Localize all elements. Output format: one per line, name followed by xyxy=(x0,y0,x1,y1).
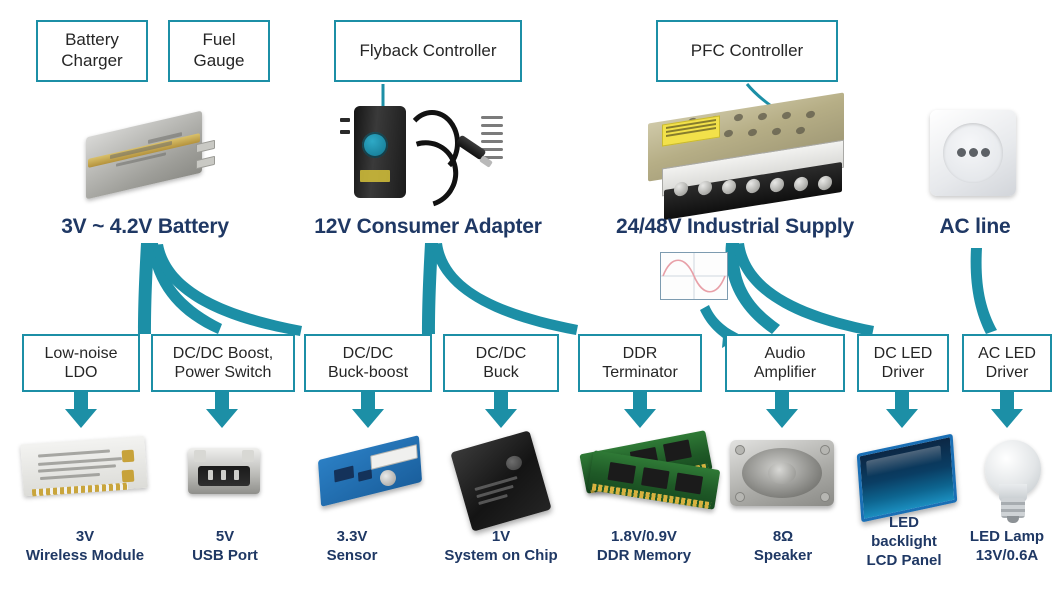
battery-to-ldo-line xyxy=(138,243,154,334)
block-buckboost-line1: DC/DC xyxy=(343,345,394,362)
load-label-led-lamp: LED Lamp 13V/0.6A xyxy=(955,528,1058,566)
power-management-block-diagram: Battery Charger Fuel Gauge Flyback Contr… xyxy=(0,0,1058,608)
block-dcled-line1: DC LED xyxy=(874,345,933,362)
load-label-speaker: 8Ω Speaker xyxy=(722,528,844,566)
block-boost-line2: Power Switch xyxy=(175,364,272,381)
led-bulb-photo xyxy=(975,440,1055,524)
load-label-soc: 1V System on Chip xyxy=(420,528,582,566)
callout-pfc-controller-label: PFC Controller xyxy=(691,41,803,61)
battery-to-boost-line xyxy=(147,243,222,334)
arrow-buck-to-soc xyxy=(485,392,517,428)
bga-chip-photo xyxy=(460,440,546,526)
load-usb-line2: USB Port xyxy=(192,547,258,564)
adapter-photo xyxy=(348,96,508,208)
block-buck-line2: Buck xyxy=(483,364,519,381)
sensor-board-photo xyxy=(318,438,430,504)
load-sensor-line1: 3.3V xyxy=(337,528,368,545)
block-boost-line1: DC/DC Boost, xyxy=(173,345,273,362)
arrow-ddr-to-memory xyxy=(624,392,656,428)
industrial-to-dcled-line xyxy=(733,243,874,336)
load-ddr-line1: 1.8V/0.9V xyxy=(611,528,677,545)
usb-connector-photo xyxy=(188,440,264,502)
battery-to-buckboost-line xyxy=(152,244,302,336)
load-soc-line1: 1V xyxy=(492,528,510,545)
callout-flyback-controller-label: Flyback Controller xyxy=(360,41,497,61)
load-lamp-line1: LED Lamp xyxy=(970,528,1044,545)
load-speaker-line1: 8Ω xyxy=(773,528,793,545)
callout-flyback-controller[interactable]: Flyback Controller xyxy=(334,20,522,82)
industrial-supply-photo xyxy=(648,102,864,212)
block-to-load-arrows xyxy=(65,392,1023,428)
block-dcdc-buck-boost[interactable]: DC/DC Buck-boost xyxy=(304,334,432,392)
block-acled-line2: Driver xyxy=(986,364,1029,381)
callout-fuel-gauge-line2: Gauge xyxy=(193,51,244,70)
wireless-module-photo xyxy=(22,440,152,502)
load-speaker-line2: Speaker xyxy=(754,547,812,564)
adapter-to-ddr-line xyxy=(431,243,578,335)
acline-fanout xyxy=(971,248,997,334)
load-wireless-line1: 3V xyxy=(76,528,94,545)
callout-fuel-gauge[interactable]: Fuel Gauge xyxy=(168,20,270,82)
callout-fuel-gauge-line1: Fuel xyxy=(202,30,235,49)
arrow-ldo-to-wireless xyxy=(65,392,97,428)
load-lamp-line2: 13V/0.6A xyxy=(976,547,1039,564)
load-lcd-line1: LED xyxy=(889,514,919,531)
callout-battery-charger[interactable]: Battery Charger xyxy=(36,20,148,82)
block-dcled-line2: Driver xyxy=(882,364,925,381)
block-buckboost-line2: Buck-boost xyxy=(328,364,408,381)
load-ddr-line2: DDR Memory xyxy=(597,547,691,564)
block-ldo-line2: LDO xyxy=(65,364,98,381)
block-ddrterm-line1: DDR xyxy=(623,345,658,362)
load-label-ddr-memory: 1.8V/0.9V DDR Memory xyxy=(570,528,718,566)
source-label-battery: 3V ~ 4.2V Battery xyxy=(0,215,290,239)
block-dcdc-boost-power-switch[interactable]: DC/DC Boost, Power Switch xyxy=(151,334,295,392)
block-audio-amplifier[interactable]: Audio Amplifier xyxy=(725,334,845,392)
adapter-fanout xyxy=(422,243,578,335)
speaker-photo xyxy=(730,440,838,510)
source-label-acline: AC line xyxy=(900,215,1050,239)
block-acled-line1: AC LED xyxy=(978,345,1036,362)
load-soc-line2: System on Chip xyxy=(444,547,557,564)
source-label-industrial: 24/48V Industrial Supply xyxy=(580,215,890,239)
adapter-to-buck-line xyxy=(422,243,438,334)
industrial-fanout xyxy=(725,243,874,336)
callout-pfc-controller[interactable]: PFC Controller xyxy=(656,20,838,82)
lcd-panel-photo xyxy=(858,444,958,512)
arrow-buckboost-to-sensor xyxy=(352,392,384,428)
block-dcdc-buck[interactable]: DC/DC Buck xyxy=(443,334,559,392)
sine-wave-svg xyxy=(661,253,727,299)
load-usb-line1: 5V xyxy=(216,528,234,545)
ac-socket-photo xyxy=(930,110,1020,200)
battery-fanout xyxy=(138,243,302,336)
acline-to-acled-line xyxy=(971,248,997,334)
load-lcd-line3: LCD Panel xyxy=(866,552,941,569)
load-sensor-line2: Sensor xyxy=(327,547,378,564)
battery-photo xyxy=(86,106,226,206)
load-lcd-line2: backlight xyxy=(871,533,937,550)
block-low-noise-ldo[interactable]: Low-noise LDO xyxy=(22,334,140,392)
arrow-acled-to-lamp xyxy=(991,392,1023,428)
load-label-wireless-module: 3V Wireless Module xyxy=(0,528,170,566)
arrow-audio-to-speaker xyxy=(766,392,798,428)
block-buck-line1: DC/DC xyxy=(476,345,527,362)
load-label-lcd-panel: LED backlight LCD Panel xyxy=(846,514,962,570)
callout-battery-charger-line1: Battery xyxy=(65,30,119,49)
load-label-sensor: 3.3V Sensor xyxy=(296,528,408,566)
block-audio-line2: Amplifier xyxy=(754,364,816,381)
source-label-adapter: 12V Consumer Adapter xyxy=(292,215,564,239)
ddr-memory-photo xyxy=(578,436,718,510)
block-ddr-terminator[interactable]: DDR Terminator xyxy=(578,334,702,392)
callout-battery-charger-line2: Charger xyxy=(61,51,122,70)
block-ac-led-driver[interactable]: AC LED Driver xyxy=(962,334,1052,392)
block-audio-line1: Audio xyxy=(765,345,806,362)
load-wireless-line2: Wireless Module xyxy=(26,547,144,564)
industrial-to-audio-line xyxy=(725,243,780,334)
block-ldo-line1: Low-noise xyxy=(45,345,118,362)
load-label-usb-port: 5V USB Port xyxy=(166,528,284,566)
block-dc-led-driver[interactable]: DC LED Driver xyxy=(857,334,949,392)
arrow-boost-to-usb xyxy=(206,392,238,428)
block-ddrterm-line2: Terminator xyxy=(602,364,678,381)
arrow-dcled-to-lcd xyxy=(886,392,918,428)
sine-wave-icon xyxy=(660,252,728,300)
